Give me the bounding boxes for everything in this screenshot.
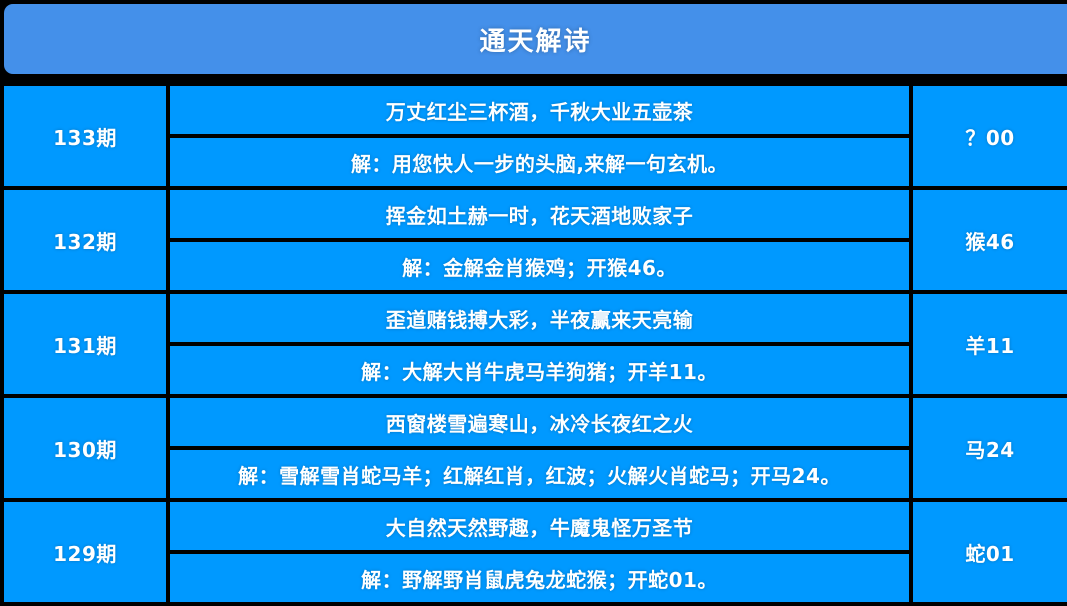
page-root: 通天解诗 133期 万丈红尘三杯酒，千秋大业五壶茶 解：用您快人一步的头脑,来解… bbox=[0, 0, 1067, 591]
table-row[interactable]: 130期 西窗楼雪遍寒山，冰冷长夜红之火 解：雪解雪肖蛇马羊；红解红肖，红波；火… bbox=[0, 398, 1067, 498]
explanation-cell: 解：大解大肖牛虎马羊狗猪；开羊11。 bbox=[170, 346, 909, 394]
result-cell: 猴46 bbox=[913, 190, 1067, 290]
jieshi-table: 133期 万丈红尘三杯酒，千秋大业五壶茶 解：用您快人一步的头脑,来解一句玄机。… bbox=[0, 86, 1067, 606]
poem-text: 西窗楼雪遍寒山，冰冷长夜红之火 bbox=[386, 408, 694, 437]
period-label: 130期 bbox=[53, 434, 117, 463]
result-label: 羊11 bbox=[965, 330, 1014, 359]
period-cell: 130期 bbox=[4, 398, 166, 498]
result-label: ？00 bbox=[965, 122, 1014, 151]
content-cell: 大自然天然野趣，牛魔鬼怪万圣节 解：野解野肖鼠虎兔龙蛇猴；开蛇01。 bbox=[170, 502, 909, 602]
result-label: 马24 bbox=[965, 434, 1014, 463]
period-label: 131期 bbox=[53, 330, 117, 359]
poem-cell: 西窗楼雪遍寒山，冰冷长夜红之火 bbox=[170, 398, 909, 446]
explanation-cell: 解：金解金肖猴鸡；开猴46。 bbox=[170, 242, 909, 290]
result-label: 蛇01 bbox=[965, 538, 1014, 567]
period-cell: 132期 bbox=[4, 190, 166, 290]
content-cell: 万丈红尘三杯酒，千秋大业五壶茶 解：用您快人一步的头脑,来解一句玄机。 bbox=[170, 86, 909, 186]
period-cell: 133期 bbox=[4, 86, 166, 186]
result-cell: 马24 bbox=[913, 398, 1067, 498]
content-cell: 挥金如土赫一时，花天酒地败家子 解：金解金肖猴鸡；开猴46。 bbox=[170, 190, 909, 290]
poem-cell: 歪道赌钱搏大彩，半夜赢来天亮输 bbox=[170, 294, 909, 342]
poem-text: 万丈红尘三杯酒，千秋大业五壶茶 bbox=[386, 96, 694, 125]
explanation-text: 解：大解大肖牛虎马羊狗猪；开羊11。 bbox=[361, 356, 718, 385]
result-cell: ？00 bbox=[913, 86, 1067, 186]
poem-text: 大自然天然野趣，牛魔鬼怪万圣节 bbox=[386, 512, 694, 541]
explanation-cell: 解：野解野肖鼠虎兔龙蛇猴；开蛇01。 bbox=[170, 554, 909, 602]
period-label: 132期 bbox=[53, 226, 117, 255]
explanation-text: 解：用您快人一步的头脑,来解一句玄机。 bbox=[351, 148, 728, 177]
content-cell: 歪道赌钱搏大彩，半夜赢来天亮输 解：大解大肖牛虎马羊狗猪；开羊11。 bbox=[170, 294, 909, 394]
period-label: 133期 bbox=[53, 122, 117, 151]
explanation-cell: 解：用您快人一步的头脑,来解一句玄机。 bbox=[170, 138, 909, 186]
table-row[interactable]: 132期 挥金如土赫一时，花天酒地败家子 解：金解金肖猴鸡；开猴46。 猴46 bbox=[0, 190, 1067, 290]
poem-cell: 万丈红尘三杯酒，千秋大业五壶茶 bbox=[170, 86, 909, 134]
result-cell: 羊11 bbox=[913, 294, 1067, 394]
poem-cell: 大自然天然野趣，牛魔鬼怪万圣节 bbox=[170, 502, 909, 550]
poem-cell: 挥金如土赫一时，花天酒地败家子 bbox=[170, 190, 909, 238]
poem-text: 挥金如土赫一时，花天酒地败家子 bbox=[386, 200, 694, 229]
explanation-text: 解：野解野肖鼠虎兔龙蛇猴；开蛇01。 bbox=[361, 564, 718, 593]
period-cell: 129期 bbox=[4, 502, 166, 602]
content-cell: 西窗楼雪遍寒山，冰冷长夜红之火 解：雪解雪肖蛇马羊；红解红肖，红波；火解火肖蛇马… bbox=[170, 398, 909, 498]
result-label: 猴46 bbox=[965, 226, 1014, 255]
page-header-banner: 通天解诗 bbox=[4, 4, 1067, 74]
period-cell: 131期 bbox=[4, 294, 166, 394]
result-cell: 蛇01 bbox=[913, 502, 1067, 602]
period-label: 129期 bbox=[53, 538, 117, 567]
table-row[interactable]: 131期 歪道赌钱搏大彩，半夜赢来天亮输 解：大解大肖牛虎马羊狗猪；开羊11。 … bbox=[0, 294, 1067, 394]
explanation-text: 解：雪解雪肖蛇马羊；红解红肖，红波；火解火肖蛇马；开马24。 bbox=[238, 460, 841, 489]
explanation-text: 解：金解金肖猴鸡；开猴46。 bbox=[402, 252, 677, 281]
poem-text: 歪道赌钱搏大彩，半夜赢来天亮输 bbox=[386, 304, 694, 333]
table-row[interactable]: 129期 大自然天然野趣，牛魔鬼怪万圣节 解：野解野肖鼠虎兔龙蛇猴；开蛇01。 … bbox=[0, 502, 1067, 602]
explanation-cell: 解：雪解雪肖蛇马羊；红解红肖，红波；火解火肖蛇马；开马24。 bbox=[170, 450, 909, 498]
table-row[interactable]: 133期 万丈红尘三杯酒，千秋大业五壶茶 解：用您快人一步的头脑,来解一句玄机。… bbox=[0, 86, 1067, 186]
page-title: 通天解诗 bbox=[479, 21, 591, 58]
